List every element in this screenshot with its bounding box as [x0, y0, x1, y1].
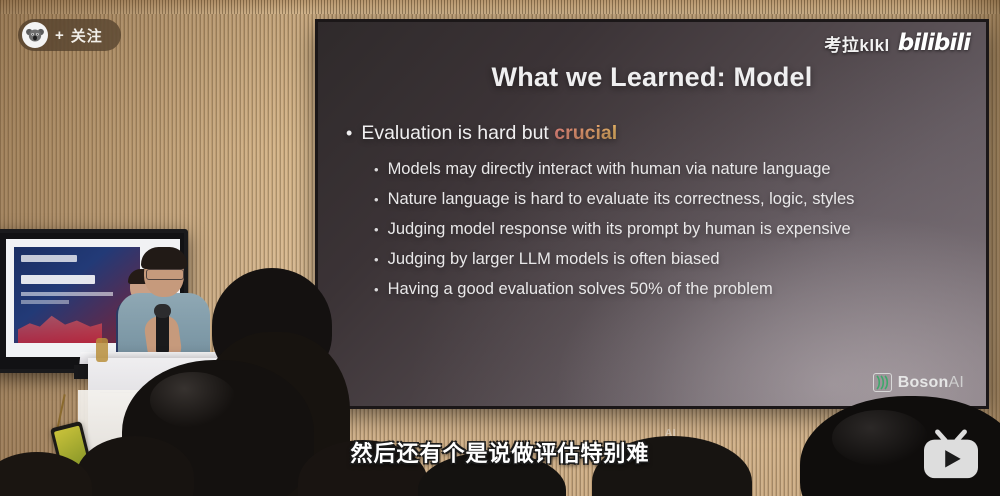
bilibili-wordmark-icon: bilibili [898, 30, 970, 56]
monitor-slide-brand [21, 255, 77, 262]
bullet-dot-icon: • [346, 124, 352, 142]
presenter-hair [141, 247, 187, 269]
sub-bullet: • Having a good evaluation solves 50% of… [374, 274, 956, 304]
water-bottle [96, 338, 108, 362]
sub-bullet-text: Judging by larger LLM models is often bi… [388, 250, 720, 269]
follow-label: 关注 [71, 25, 103, 46]
sub-bullet-text: Having a good evaluation solves 50% of t… [388, 280, 773, 299]
bosonai-wordmark: BosonAI [898, 374, 964, 392]
monitor-slide-subtitle-block-2 [21, 300, 69, 304]
subtitle-text: 然后还有个是说做评估特别难 [350, 436, 649, 468]
bullet-dot-icon: • [374, 223, 379, 236]
follow-button[interactable]: + 关注 [18, 19, 121, 51]
bullet-dot-icon: • [374, 283, 379, 296]
sub-bullet: • Models may directly interact with huma… [374, 154, 956, 184]
projection-screen: 考拉klkl bilibili What we Learned: Model •… [318, 22, 986, 406]
bullet-dot-icon: • [374, 163, 379, 176]
plus-icon: + [55, 27, 64, 44]
bullet-dot-icon: • [374, 193, 379, 206]
monitor-slide-subtitle-block [21, 292, 113, 296]
sub-bullet: • Judging by larger LLM models is often … [374, 244, 956, 274]
subtitle-bar: 然后还有个是说做评估特别难 [0, 436, 1000, 468]
bosonai-logo: BosonAI [873, 373, 964, 392]
microphone-head [154, 304, 171, 318]
monitor-slide-skyline-graphic [18, 309, 102, 343]
channel-watermark: 考拉klkl bilibili [824, 30, 970, 56]
bosonai-suffix: AI [948, 374, 964, 391]
monitor-slide-title-block [21, 275, 95, 284]
ceiling-trim [0, 0, 1000, 14]
video-frame: 考拉klkl bilibili What we Learned: Model •… [0, 0, 1000, 496]
koala-glyph-icon [25, 25, 45, 45]
presenter-glasses [146, 269, 184, 280]
slide-bullet-list: • Evaluation is hard but crucial • Model… [346, 122, 956, 304]
watermark-channel-name: 考拉klkl [824, 31, 889, 56]
sub-bullet-text: Models may directly interact with human … [388, 160, 831, 179]
bosonai-name: Boson [898, 374, 949, 391]
koala-avatar-icon[interactable] [22, 22, 48, 48]
sub-bullet: • Nature language is hard to evaluate it… [374, 184, 956, 214]
bullet-dot-icon: • [374, 253, 379, 266]
slide-title: What we Learned: Model [318, 62, 986, 93]
main-bullet: • Evaluation is hard but crucial [346, 122, 956, 145]
main-bullet-text: Evaluation is hard but crucial [361, 122, 617, 145]
boson-wave-mark-icon [873, 373, 892, 392]
main-bullet-highlight: crucial [554, 122, 617, 144]
audience-head-highlight [150, 372, 236, 428]
sub-bullet-text: Nature language is hard to evaluate its … [388, 190, 855, 209]
sub-bullet-text: Judging model response with its prompt b… [388, 220, 851, 239]
main-bullet-text-plain: Evaluation is hard but [361, 122, 549, 144]
bilibili-tv-icon[interactable] [920, 428, 982, 482]
sub-bullet: • Judging model response with its prompt… [374, 214, 956, 244]
